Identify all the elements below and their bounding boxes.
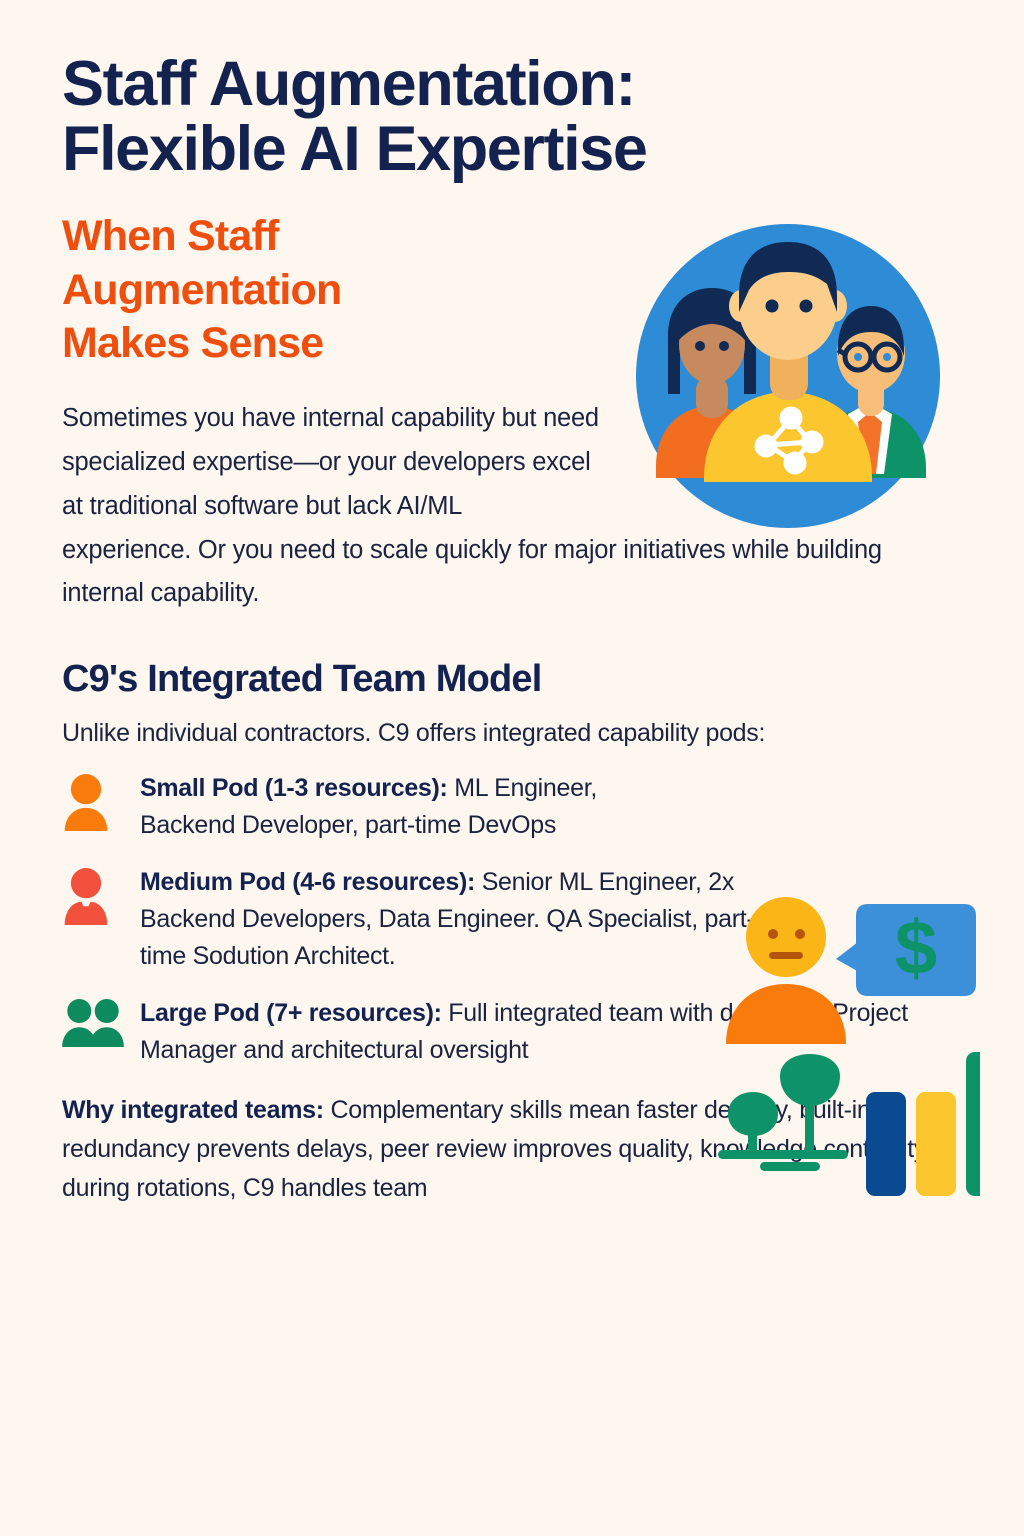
closing-label: Why integrated teams: (62, 1096, 324, 1124)
section-subheading: When Staff Augmentation Makes Sense (62, 210, 492, 371)
single-person-icon (62, 864, 122, 930)
intro-paragraph-part-1: Sometimes you have internal capability b… (62, 397, 602, 529)
two-people-icon (62, 995, 122, 1052)
bar-1 (866, 1092, 906, 1196)
subheading-line-3: Makes Sense (62, 317, 492, 371)
list-item: Small Pod (1-3 resources): ML Engineer, … (62, 770, 962, 844)
person-with-money-speech-bubble-illustration: $ (718, 894, 980, 1044)
subheading-line-1: When Staff (62, 210, 492, 264)
pod-title: Medium Pod (4-6 resources): (140, 868, 475, 896)
page-title-line-2: Flexible AI Expertise (62, 117, 902, 182)
bar-3 (966, 1052, 980, 1196)
pod-text: Small Pod (1-3 resources): ML Engineer, … (140, 770, 640, 844)
pod-title: Small Pod (1-3 resources): (140, 774, 448, 802)
plants-icon (718, 1054, 848, 1171)
bar-2 (916, 1092, 956, 1196)
section-lead-text: Unlike individual contractors. C9 offers… (62, 719, 962, 748)
when-staff-augmentation-section: When Staff Augmentation Makes Sense Some… (62, 210, 962, 617)
team-of-three-illustration (608, 216, 968, 536)
pod-text: Medium Pod (4-6 resources): Senior ML En… (140, 864, 780, 975)
page-title-line-1: Staff Augmentation: (62, 52, 902, 117)
single-person-icon (62, 770, 122, 836)
page-title: Staff Augmentation: Flexible AI Expertis… (62, 0, 902, 182)
infographic-page: Staff Augmentation: Flexible AI Expertis… (0, 0, 1024, 1536)
intro-paragraph-part-2: experience. Or you need to scale quickly… (62, 536, 882, 608)
subheading-line-2: Augmentation (62, 264, 492, 318)
growth-chart-illustration (718, 1052, 980, 1198)
pod-title: Large Pod (7+ resources): (140, 999, 442, 1027)
section-title: C9's Integrated Team Model (62, 658, 962, 701)
dollar-sign-glyph: $ (895, 906, 937, 991)
